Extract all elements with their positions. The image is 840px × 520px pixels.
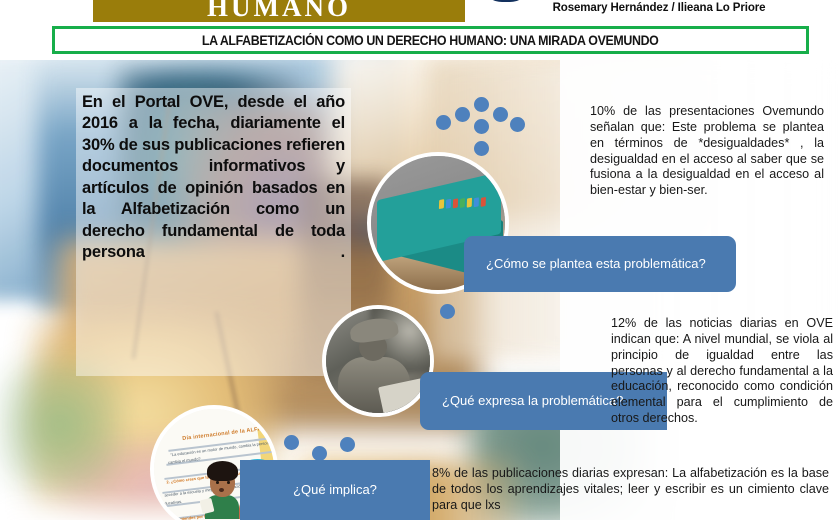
question-bubble-como-se-plantea[interactable]: ¿Cómo se plantea esta problemática? (464, 236, 736, 292)
decor-dot (440, 304, 455, 319)
banner-word-humano: HUMANO (207, 0, 351, 22)
decor-dot (455, 107, 470, 122)
bubble-text: ¿Qué implica? (293, 482, 377, 499)
bubble-text: ¿Cómo se plantea esta problemática? (486, 256, 706, 273)
slide-title: LA ALFABETIZACIÓN COMO UN DERECHO HUMANO… (202, 33, 659, 48)
brand-logo: enEducación Rosemary Hernández / Ilieana… (478, 0, 840, 22)
boy-eye (227, 481, 230, 484)
left-statement-text: En el Portal OVE, desde el año 2016 a la… (82, 92, 345, 264)
slide-title-box: LA ALFABETIZACIÓN COMO UN DERECHO HUMANO… (52, 26, 809, 54)
boy-mouth (219, 488, 224, 492)
decor-dot (474, 119, 489, 134)
stat-block-12-percent: 12% de las noticias diarias en OVE indic… (611, 316, 833, 427)
left-statement-panel: En el Portal OVE, desde el año 2016 a la… (76, 88, 351, 376)
decor-dot (474, 97, 489, 112)
boy-eye (216, 481, 219, 484)
gold-title-banner: HUMANO (93, 0, 465, 22)
question-bubble-que-implica[interactable]: ¿Qué implica? (240, 460, 430, 520)
boy-hair (207, 461, 238, 481)
bubble-text: ¿Qué expresa la problemática? (442, 393, 623, 410)
decor-dot (312, 446, 327, 461)
author-credits: Rosemary Hernández / Ilieana Lo Priore (478, 2, 840, 14)
stat-text: 8% de las publicaciones diarias expresan… (432, 466, 829, 512)
stat-text: 12% de las noticias diarias en OVE indic… (611, 316, 833, 425)
decor-dot (493, 107, 508, 122)
stat-block-8-percent: 8% de las publicaciones diarias expresan… (432, 466, 829, 514)
stat-text: 10% de las presentaciones Ovemundo señal… (590, 104, 824, 197)
decor-dot (340, 437, 355, 452)
decor-dot (474, 141, 489, 156)
decor-dot (436, 115, 451, 130)
decor-dot (284, 435, 299, 450)
art-green-mass (0, 360, 120, 490)
poster-slide: HUMANO enEducación Rosemary Hernández / … (0, 0, 840, 520)
stat-block-10-percent: 10% de las presentaciones Ovemundo señal… (590, 104, 824, 199)
elder-reading-photo (322, 305, 434, 417)
decor-dot (510, 117, 525, 132)
